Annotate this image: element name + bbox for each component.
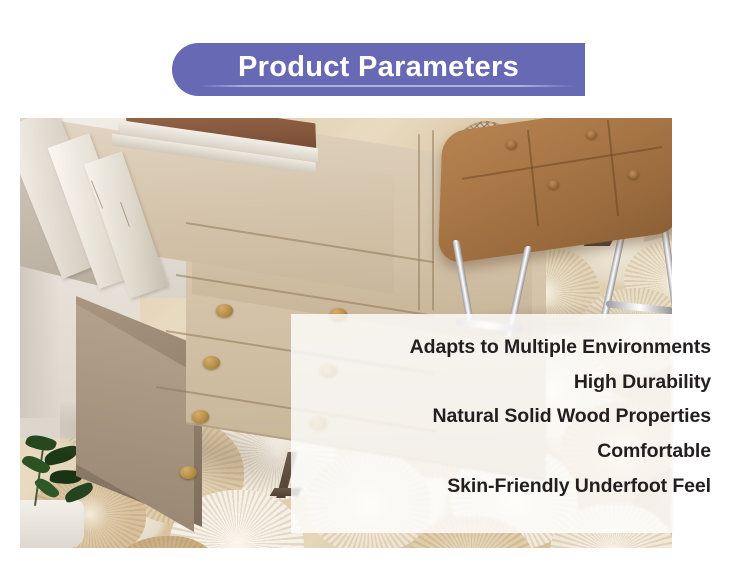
product-parameters-page: Product Parameters bbox=[0, 0, 750, 574]
feature-item: Adapts to Multiple Environments bbox=[291, 330, 711, 365]
cabinet-seam bbox=[432, 130, 434, 310]
features-list: Adapts to Multiple Environments High Dur… bbox=[291, 314, 711, 504]
stool-tufted-button bbox=[628, 170, 639, 179]
plant-pot bbox=[20, 500, 84, 548]
stool-tufted-button bbox=[506, 140, 517, 149]
stool-tufted-button bbox=[586, 130, 597, 139]
features-overlay-panel: Adapts to Multiple Environments High Dur… bbox=[291, 314, 728, 533]
brass-knob bbox=[180, 466, 197, 479]
brass-knob bbox=[192, 410, 209, 423]
feature-item: Comfortable bbox=[291, 434, 711, 469]
stool-tufted-button bbox=[548, 180, 559, 189]
title-underline-decoration bbox=[198, 85, 575, 87]
floor-petal-tile bbox=[108, 536, 226, 548]
section-header-banner: Product Parameters bbox=[172, 43, 585, 96]
brass-knob bbox=[216, 304, 233, 317]
feature-item: High Durability bbox=[291, 365, 711, 400]
brass-knob bbox=[203, 356, 220, 369]
page-title: Product Parameters bbox=[172, 48, 585, 86]
feature-item: Skin-Friendly Underfoot Feel bbox=[291, 469, 711, 504]
cabinet-seam bbox=[418, 134, 420, 310]
feature-item: Natural Solid Wood Properties bbox=[291, 399, 711, 434]
